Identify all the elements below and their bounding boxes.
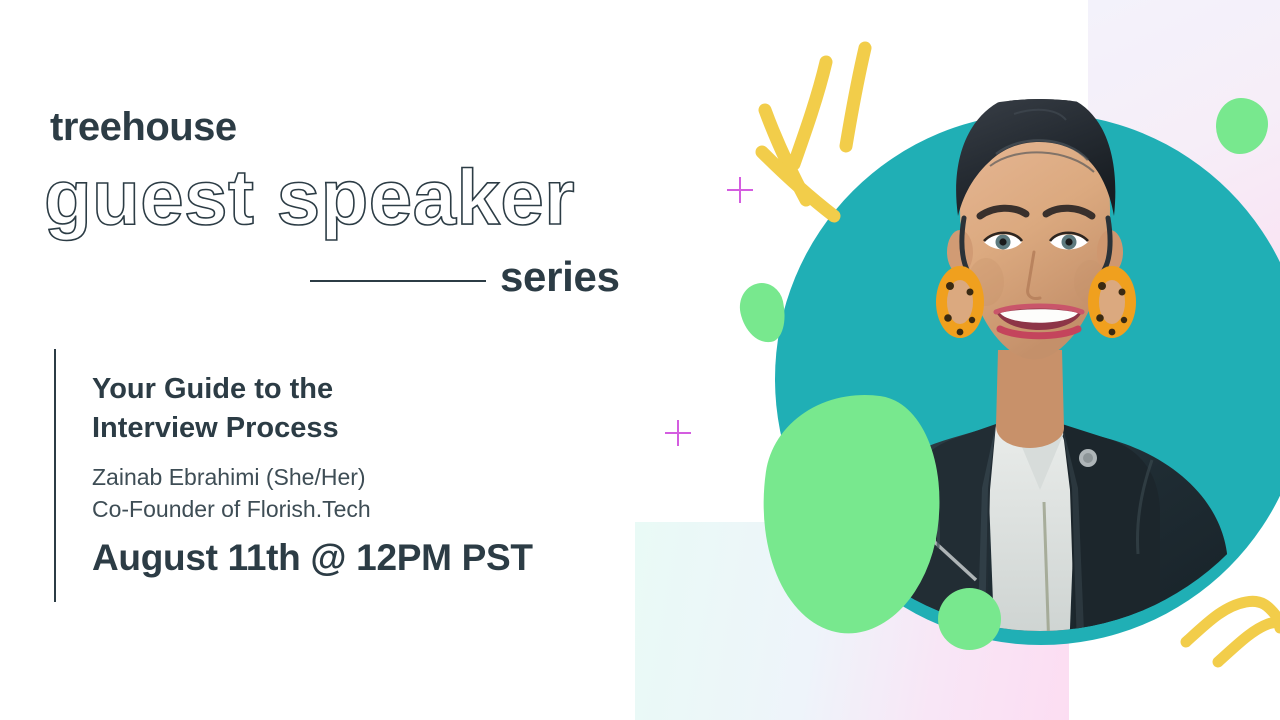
speaker-name: Zainab Ebrahimi (She/Her) — [92, 462, 366, 494]
slide-canvas: treehouse guest speaker series Your Guid… — [0, 0, 1280, 720]
plus-icon-upper — [727, 177, 753, 203]
brand-wordmark: treehouse — [50, 107, 237, 147]
headline-guest-speaker: guest speaker — [44, 158, 575, 236]
green-blob-round — [938, 588, 1001, 650]
plus-icon-lower — [665, 420, 691, 446]
speaker-role: Co-Founder of Florish.Tech — [92, 494, 371, 526]
talk-title-line-1: Your Guide to the — [92, 370, 552, 409]
details-vertical-rule — [54, 349, 56, 602]
event-datetime: August 11th @ 12PM PST — [92, 538, 533, 579]
series-label: series — [500, 256, 620, 298]
series-divider-rule — [310, 280, 486, 282]
talk-title-line-2: Interview Process — [92, 409, 552, 448]
talk-title: Your Guide to the Interview Process — [92, 370, 552, 448]
